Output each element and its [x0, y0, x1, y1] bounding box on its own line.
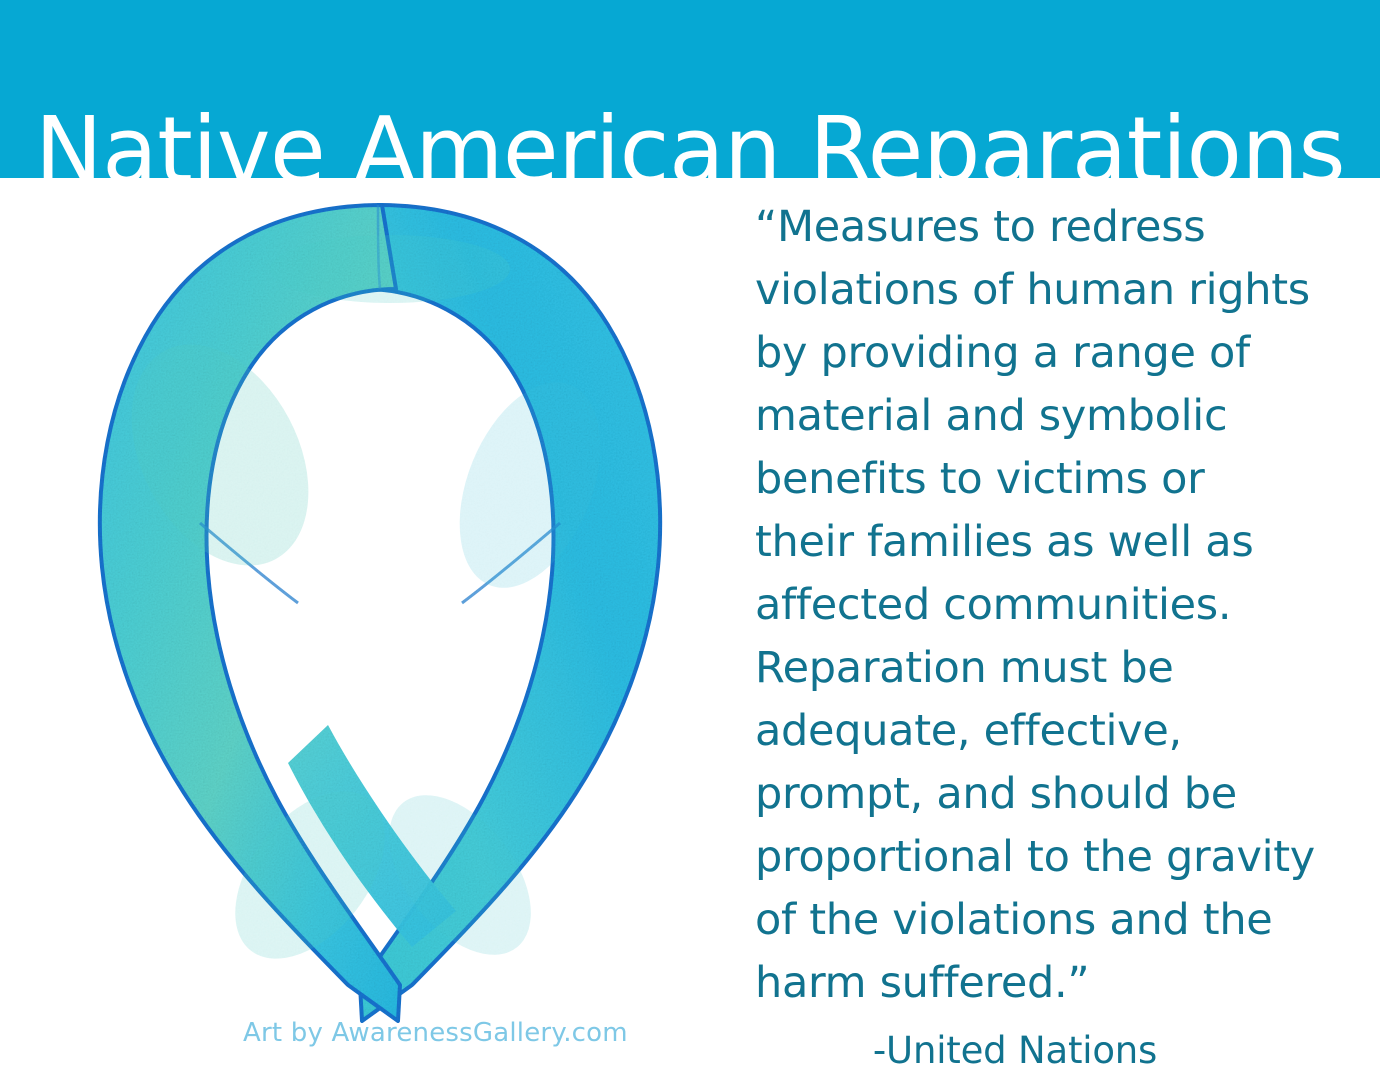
- awareness-poster: Native American Reparations: [0, 0, 1380, 1080]
- quote-attribution: -United Nations: [755, 1029, 1315, 1073]
- art-credit: Art by AwarenessGallery.com: [243, 1018, 628, 1048]
- ribbon-icon: [60, 185, 700, 1035]
- quote-block: “Measures to redress violations of human…: [755, 196, 1315, 1073]
- quote-text: “Measures to redress violations of human…: [755, 196, 1315, 1015]
